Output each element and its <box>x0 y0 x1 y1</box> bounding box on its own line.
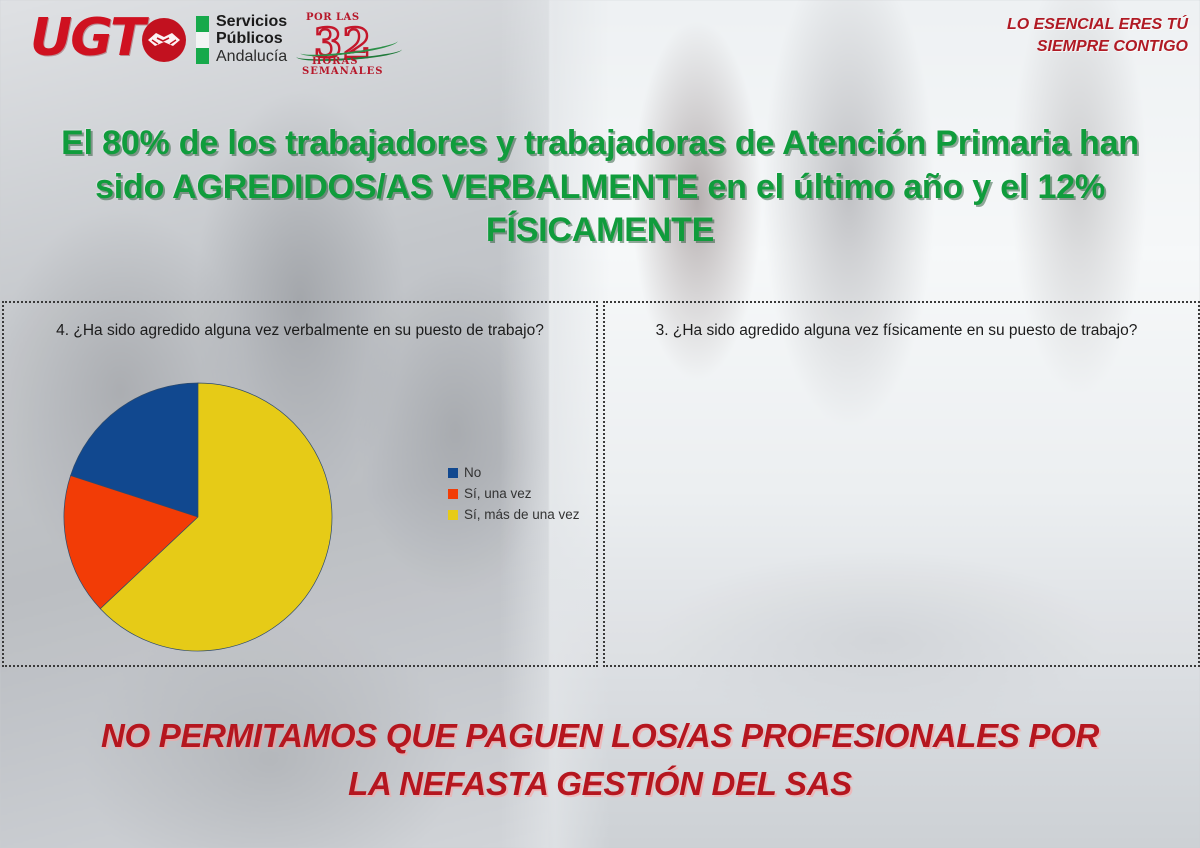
servicios-publicos-label: Servicios Públicos Andalucía <box>216 13 287 65</box>
legend-item: No <box>448 463 580 484</box>
footer-slogan: NO PERMITAMOS QUE PAGUEN LOS/AS PROFESIO… <box>30 712 1170 808</box>
poster: UGT Servicios Públicos Andalucía POR LAS… <box>0 0 1200 848</box>
corner-slogan: LO ESENCIAL ERES TÚ SIEMPRE CONTIGO <box>1007 14 1188 57</box>
page-title: El 80% de los trabajadores y trabajadora… <box>60 122 1140 253</box>
chart-panel-fisica: 3. ¿Ha sido agredido alguna vez físicame… <box>603 301 1200 667</box>
legend-item: Sí, más de una vez <box>448 505 580 526</box>
handshake-icon <box>142 18 186 62</box>
sp-line-2: Públicos <box>216 30 287 47</box>
chart-title-fisica: 3. ¿Ha sido agredido alguna vez físicame… <box>609 321 1184 342</box>
legend-item: Sí, una vez <box>448 484 580 505</box>
corner-slogan-line-1: LO ESENCIAL ERES TÚ <box>1007 14 1188 36</box>
legend-label: Sí, una vez <box>464 484 532 505</box>
legend-swatch-icon <box>448 468 458 478</box>
chart-panel-verbal: 4. ¿Ha sido agredido alguna vez verbalme… <box>2 301 598 667</box>
legend-verbal: NoSí, una vezSí, más de una vez <box>448 463 580 526</box>
footer-slogan-line-2: LA NEFASTA GESTIÓN DEL SAS <box>30 760 1170 808</box>
corner-slogan-line-2: SIEMPRE CONTIGO <box>1007 36 1188 58</box>
legend-label: No <box>464 463 481 484</box>
campaign-32-hours-logo: POR LAS 32 HORAS SEMANALES <box>296 12 402 78</box>
ugt-logo-wordmark: UGT <box>30 8 143 68</box>
sp-line-1: Servicios <box>216 13 287 30</box>
sp-line-3: Andalucía <box>216 48 287 65</box>
campaign-bottom-label: SEMANALES <box>302 66 383 77</box>
legend-label: Sí, más de una vez <box>464 505 580 526</box>
andalusia-flag-icon <box>196 16 209 64</box>
pie-chart-verbal <box>62 381 334 658</box>
chart-title-verbal: 4. ¿Ha sido agredido alguna vez verbalme… <box>14 321 586 342</box>
legend-swatch-icon <box>448 489 458 499</box>
footer-slogan-line-1: NO PERMITAMOS QUE PAGUEN LOS/AS PROFESIO… <box>30 712 1170 760</box>
legend-swatch-icon <box>448 510 458 520</box>
header: UGT Servicios Públicos Andalucía POR LAS… <box>0 0 1200 96</box>
